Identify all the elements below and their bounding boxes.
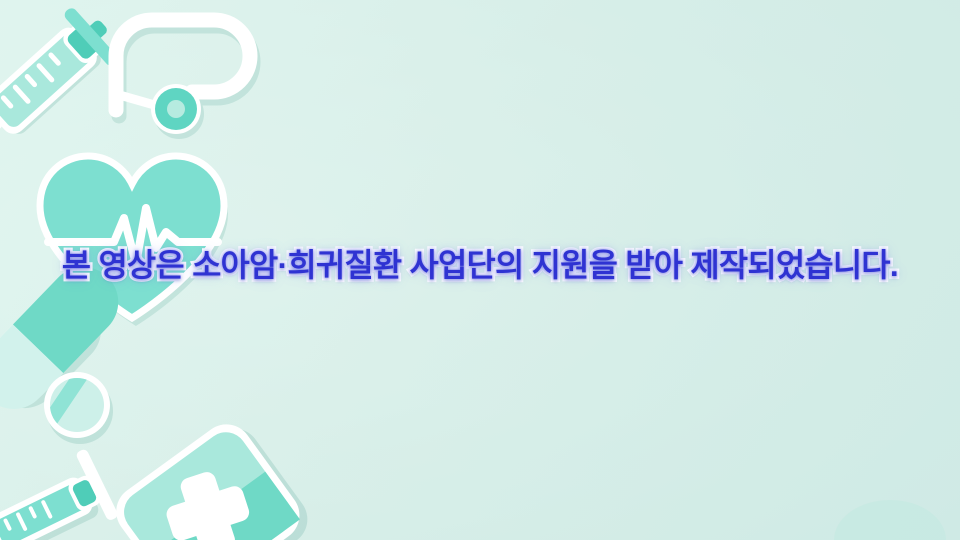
background-blob bbox=[828, 474, 948, 540]
video-endcard-slide: 본 영상은 소아암·희귀질환 사업단의 지원을 받아 제작되었습니다. bbox=[0, 0, 960, 540]
syringe-icon bbox=[0, 448, 120, 540]
stethoscope-icon bbox=[96, 0, 271, 147]
first-aid-kit-icon bbox=[118, 428, 304, 540]
tablet-pill-icon bbox=[38, 366, 116, 444]
